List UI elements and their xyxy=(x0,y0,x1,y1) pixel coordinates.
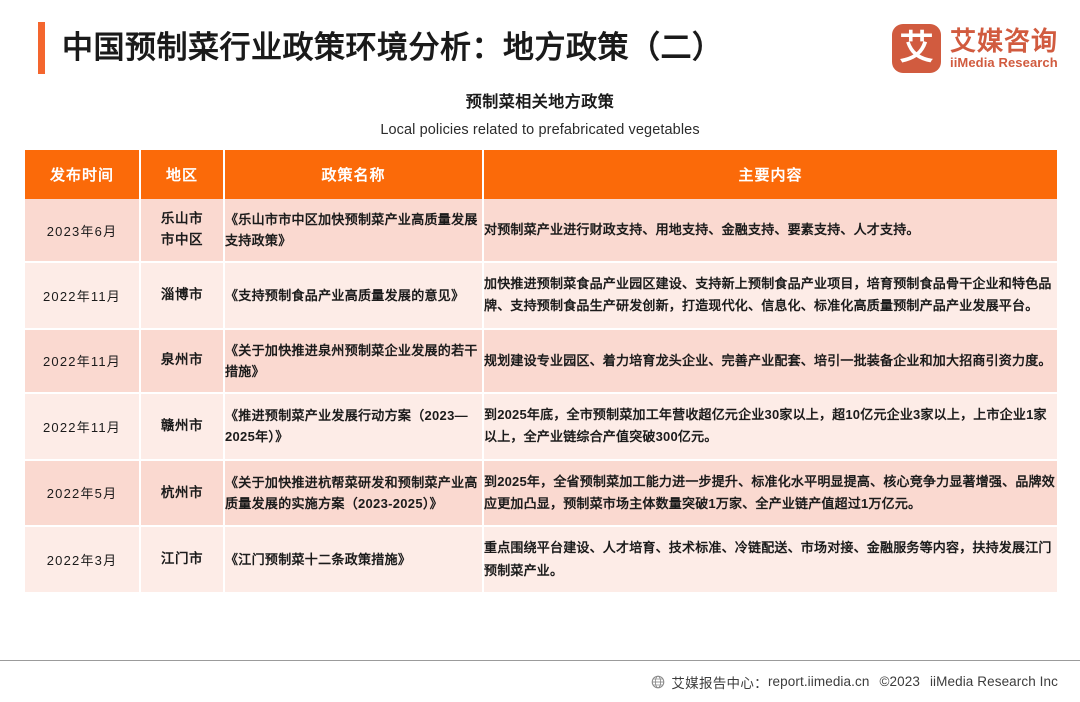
footer-content: 艾媒报告中心： report.iimedia.cn ©2023 iiMedia … xyxy=(651,672,1058,692)
cell-content: 规划建设专业园区、着力培育龙头企业、完善产业配套、培引一批装备企业和加大招商引资… xyxy=(483,329,1057,393)
column-header-date: 发布时间 xyxy=(25,150,140,199)
cell-policy-name: 《关于加快推进杭帮菜研发和预制菜产业高质量发展的实施方案（2023-2025）》 xyxy=(224,460,483,527)
cell-content: 加快推进预制菜食品产业园区建设、支持新上预制食品产业项目，培育预制食品骨干企业和… xyxy=(483,262,1057,329)
page-title: 中国预制菜行业政策环境分析：地方政策（二） xyxy=(62,31,724,65)
brand-logo: 艾 艾媒咨询 iiMedia Research xyxy=(892,24,1058,73)
policy-table-body: 2023年6月 乐山市市中区 《乐山市市中区加快预制菜产业高质量发展支持政策》 … xyxy=(25,199,1057,593)
cell-region: 淄博市 xyxy=(140,262,224,329)
cell-date: 2022年5月 xyxy=(25,460,140,527)
cell-policy-name: 《江门预制菜十二条政策措施》 xyxy=(224,526,483,593)
column-header-region: 地区 xyxy=(140,150,224,199)
cell-policy-name: 《关于加快推进泉州预制菜企业发展的若干措施》 xyxy=(224,329,483,393)
policy-table-wrapper: 发布时间 地区 政策名称 主要内容 2023年6月 乐山市市中区 《乐山市市中区… xyxy=(25,150,1057,594)
slide-page: 中国预制菜行业政策环境分析：地方政策（二） 艾 艾媒咨询 iiMedia Res… xyxy=(0,0,1080,702)
cell-region: 乐山市市中区 xyxy=(140,199,224,262)
cell-region: 江门市 xyxy=(140,526,224,593)
brand-name-cn: 艾媒咨询 xyxy=(950,27,1058,55)
cell-content: 重点围绕平台建设、人才培育、技术标准、冷链配送、市场对接、金融服务等内容，扶持发… xyxy=(483,526,1057,593)
table-row: 2022年11月 泉州市 《关于加快推进泉州预制菜企业发展的若干措施》 规划建设… xyxy=(25,329,1057,393)
footer-url[interactable]: report.iimedia.cn xyxy=(768,674,870,689)
table-row: 2023年6月 乐山市市中区 《乐山市市中区加快预制菜产业高质量发展支持政策》 … xyxy=(25,199,1057,262)
cell-region: 杭州市 xyxy=(140,460,224,527)
cell-date: 2022年11月 xyxy=(25,393,140,460)
brand-name-en: iiMedia Research xyxy=(950,55,1058,71)
brand-logo-text: 艾媒咨询 iiMedia Research xyxy=(950,27,1058,71)
title-block: 中国预制菜行业政策环境分析：地方政策（二） xyxy=(38,22,724,74)
cell-policy-name: 《乐山市市中区加快预制菜产业高质量发展支持政策》 xyxy=(224,199,483,262)
globe-icon xyxy=(651,675,665,689)
policy-table: 发布时间 地区 政策名称 主要内容 2023年6月 乐山市市中区 《乐山市市中区… xyxy=(25,150,1057,594)
page-header: 中国预制菜行业政策环境分析：地方政策（二） 艾 艾媒咨询 iiMedia Res… xyxy=(0,0,1080,86)
page-footer: 艾媒报告中心： report.iimedia.cn ©2023 iiMedia … xyxy=(0,660,1080,702)
table-header-row: 发布时间 地区 政策名称 主要内容 xyxy=(25,150,1057,199)
column-header-content: 主要内容 xyxy=(483,150,1057,199)
cell-date: 2022年3月 xyxy=(25,526,140,593)
table-row: 2022年3月 江门市 《江门预制菜十二条政策措施》 重点围绕平台建设、人才培育… xyxy=(25,526,1057,593)
subtitle-english: Local policies related to prefabricated … xyxy=(0,112,1080,138)
table-row: 2022年11月 赣州市 《推进预制菜产业发展行动方案（2023—2025年）》… xyxy=(25,393,1057,460)
column-header-policy: 政策名称 xyxy=(224,150,483,199)
title-accent-bar xyxy=(38,22,45,74)
table-row: 2022年5月 杭州市 《关于加快推进杭帮菜研发和预制菜产业高质量发展的实施方案… xyxy=(25,460,1057,527)
cell-date: 2022年11月 xyxy=(25,329,140,393)
table-row: 2022年11月 淄博市 《支持预制食品产业高质量发展的意见》 加快推进预制菜食… xyxy=(25,262,1057,329)
subtitle-chinese: 预制菜相关地方政策 xyxy=(0,86,1080,112)
footer-label: 艾媒报告中心： xyxy=(671,672,768,692)
footer-organization: iiMedia Research Inc xyxy=(930,674,1058,689)
cell-region: 赣州市 xyxy=(140,393,224,460)
cell-policy-name: 《推进预制菜产业发展行动方案（2023—2025年）》 xyxy=(224,393,483,460)
cell-date: 2023年6月 xyxy=(25,199,140,262)
cell-region: 泉州市 xyxy=(140,329,224,393)
cell-content: 到2025年，全省预制菜加工能力进一步提升、标准化水平明显提高、核心竞争力显著增… xyxy=(483,460,1057,527)
cell-content: 到2025年底，全市预制菜加工年营收超亿元企业30家以上，超10亿元企业3家以上… xyxy=(483,393,1057,460)
cell-date: 2022年11月 xyxy=(25,262,140,329)
cell-policy-name: 《支持预制食品产业高质量发展的意见》 xyxy=(224,262,483,329)
cell-content: 对预制菜产业进行财政支持、用地支持、金融支持、要素支持、人才支持。 xyxy=(483,199,1057,262)
iimedia-logo-icon: 艾 xyxy=(892,24,941,73)
footer-copyright: ©2023 xyxy=(879,674,919,689)
